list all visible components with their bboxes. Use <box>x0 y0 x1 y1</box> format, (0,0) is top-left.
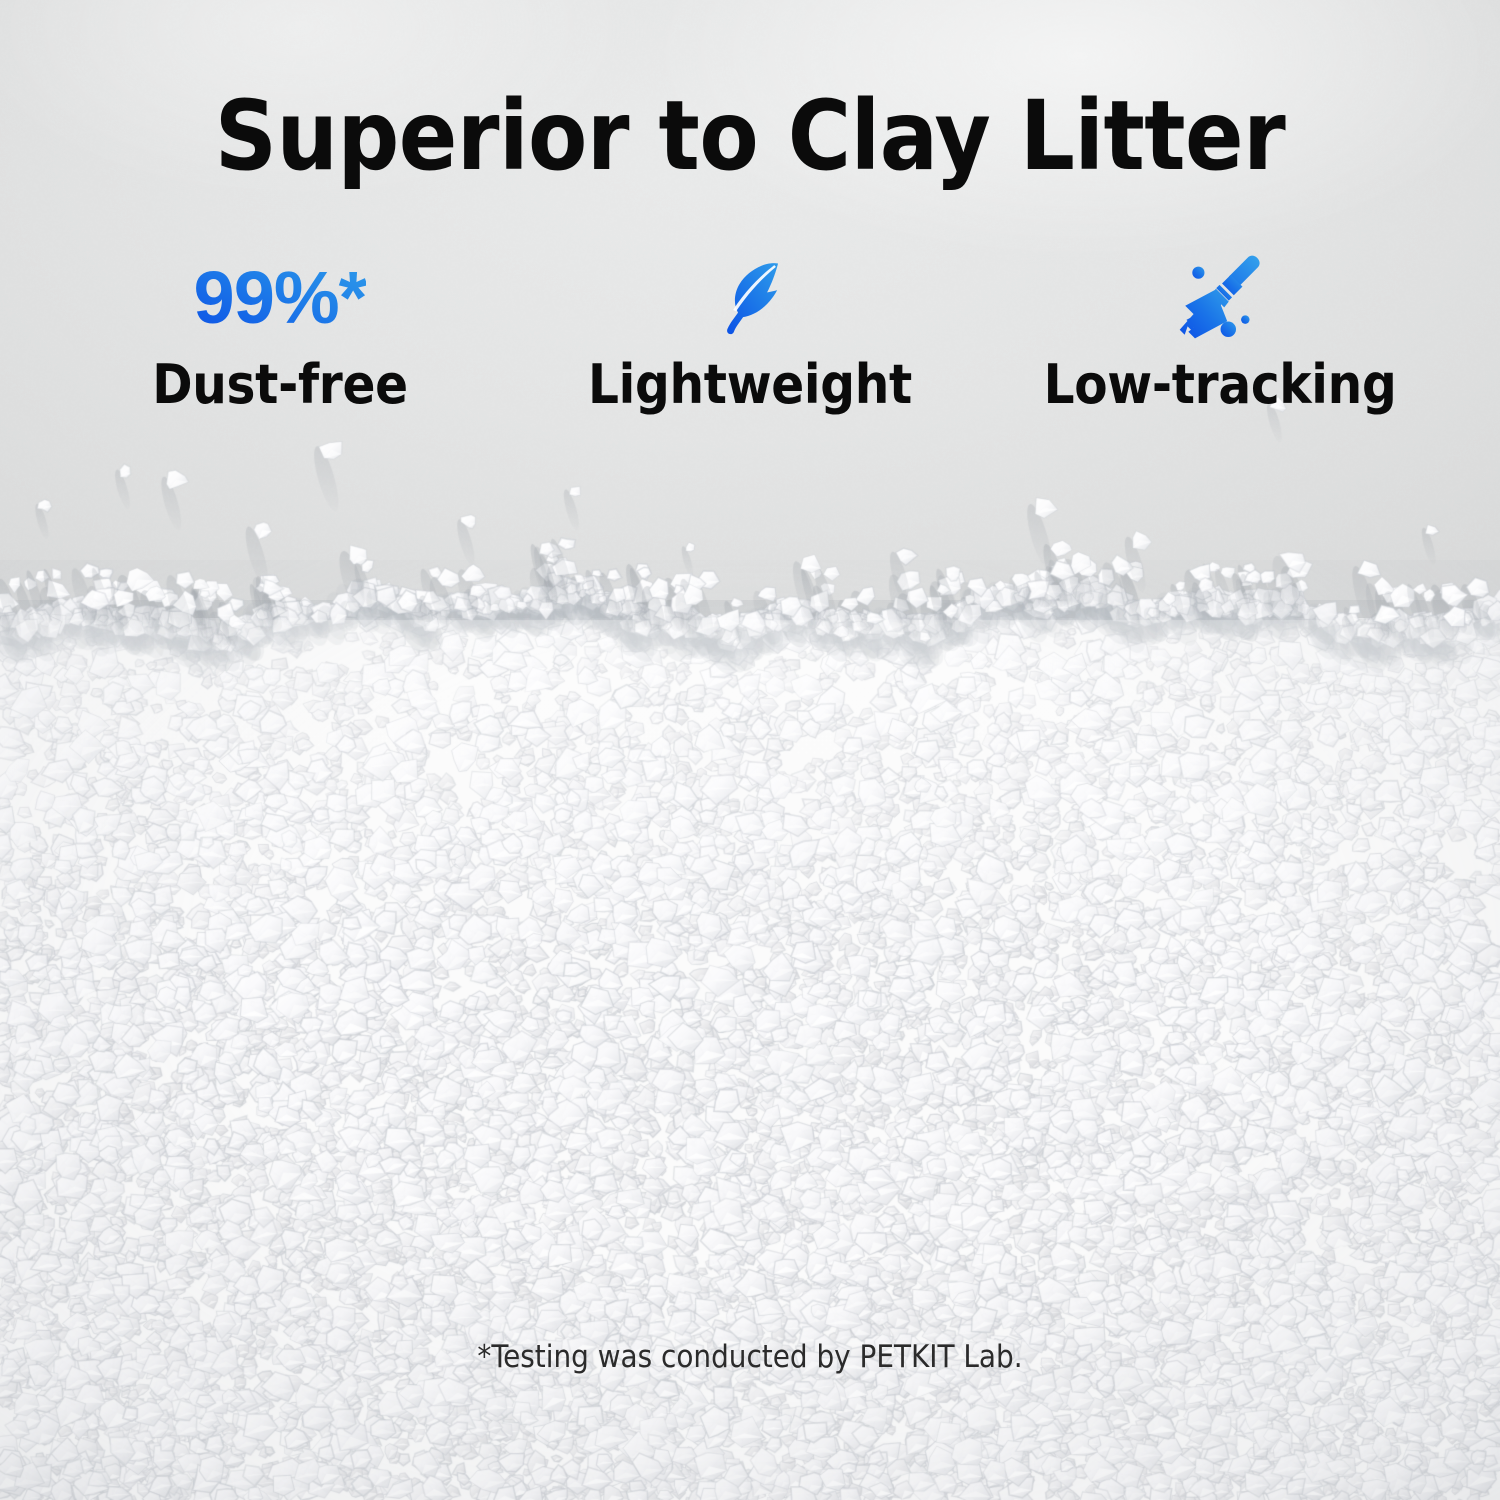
low-tracking-badge <box>1172 252 1268 344</box>
feature-label-dust-free: Dust-free <box>152 358 408 412</box>
feature-lightweight: Lightweight <box>540 252 960 412</box>
feature-dust-free: 99%* Dust-free <box>70 252 490 412</box>
lightweight-badge <box>704 252 796 344</box>
feature-label-low-tracking: Low-tracking <box>1044 358 1397 412</box>
broom-icon <box>1172 252 1268 344</box>
footnote-disclaimer: *Testing was conducted by PETKIT Lab. <box>0 1339 1500 1375</box>
dust-free-badge: 99%* <box>194 252 367 344</box>
feature-low-tracking: Low-tracking <box>1010 252 1430 412</box>
dust-particle <box>1241 315 1249 323</box>
percent-value: 99%* <box>194 261 367 335</box>
page-title: Superior to Clay Litter <box>0 86 1500 187</box>
dust-particle <box>1221 322 1236 337</box>
feature-label-lightweight: Lightweight <box>588 358 912 412</box>
dust-particle <box>1192 267 1204 279</box>
feather-icon <box>704 252 796 344</box>
product-feature-poster: Superior to Clay Litter 99%* Dust-free <box>0 0 1500 1500</box>
airborne-granules <box>0 380 1500 680</box>
feature-row: 99%* Dust-free Lightwei <box>70 252 1430 412</box>
